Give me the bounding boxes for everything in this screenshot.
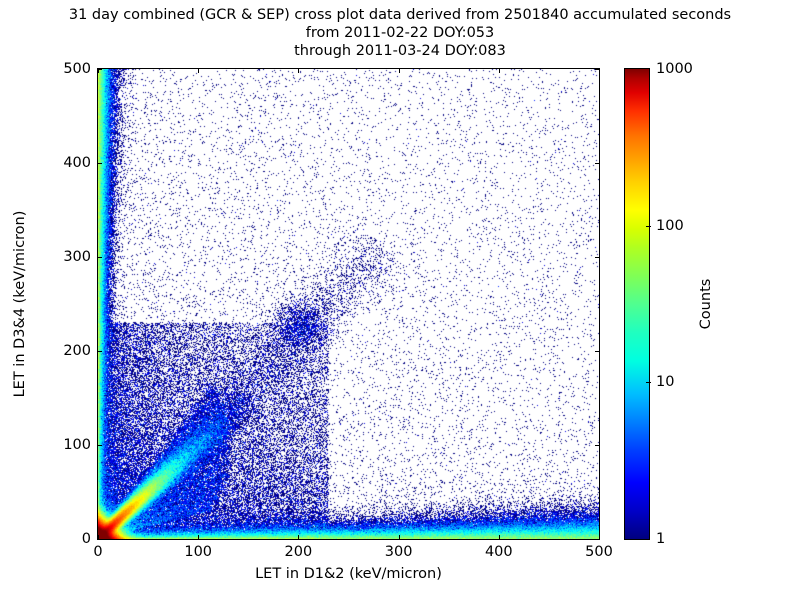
x-tick-mark (499, 69, 500, 73)
y-tick-label: 100 (63, 437, 91, 453)
y-tick-mark (595, 445, 599, 446)
y-tick-mark (595, 69, 599, 70)
plot-title: 31 day combined (GCR & SEP) cross plot d… (0, 6, 800, 60)
colorbar-tick-mark (646, 382, 651, 383)
x-tick-mark (499, 535, 500, 539)
y-tick-mark (595, 539, 599, 540)
plot-title-line-2: from 2011-02-22 DOY:053 (0, 24, 800, 42)
y-tick-mark (595, 257, 599, 258)
colorbar-tick-label: 1 (656, 531, 665, 547)
x-tick-mark (399, 535, 400, 539)
x-tick-label: 0 (93, 544, 102, 560)
x-axis-label: LET in D1&2 (keV/micron) (97, 566, 600, 582)
y-tick-mark (595, 163, 599, 164)
matplotlib-figure: 31 day combined (GCR & SEP) cross plot d… (0, 0, 800, 600)
y-tick-mark (98, 539, 102, 540)
x-tick-mark (198, 69, 199, 73)
colorbar-tick-label: 10 (656, 374, 674, 390)
y-axis-label: LET in D3&4 (keV/micron) (12, 211, 28, 398)
x-tick-label: 500 (585, 544, 613, 560)
y-tick-mark (98, 351, 102, 352)
y-tick-label: 400 (63, 155, 91, 171)
colorbar-gradient (625, 69, 649, 539)
x-tick-mark (298, 69, 299, 73)
x-tick-label: 400 (485, 544, 513, 560)
y-tick-mark (595, 351, 599, 352)
x-tick-mark (599, 535, 600, 539)
plot-title-line-1: 31 day combined (GCR & SEP) cross plot d… (0, 6, 800, 24)
plot-axes-frame (97, 68, 600, 540)
y-tick-label: 500 (63, 61, 91, 77)
x-tick-label: 100 (184, 544, 212, 560)
x-tick-mark (599, 69, 600, 73)
y-tick-mark (98, 257, 102, 258)
colorbar-tick-label: 100 (656, 218, 684, 234)
density-scatter-canvas (98, 69, 599, 539)
y-tick-label: 300 (63, 249, 91, 265)
x-tick-mark (298, 535, 299, 539)
y-tick-label: 0 (82, 531, 91, 547)
y-tick-mark (98, 69, 102, 70)
x-tick-mark (399, 69, 400, 73)
plot-title-line-3: through 2011-03-24 DOY:083 (0, 42, 800, 60)
x-tick-label: 300 (385, 544, 413, 560)
y-tick-label: 200 (63, 343, 91, 359)
colorbar-tick-label: 1000 (656, 61, 693, 77)
y-tick-mark (98, 445, 102, 446)
x-tick-mark (198, 535, 199, 539)
colorbar-label: Counts (698, 279, 714, 330)
y-tick-mark (98, 163, 102, 164)
colorbar (624, 68, 650, 540)
x-tick-label: 200 (285, 544, 313, 560)
colorbar-tick-mark (646, 226, 651, 227)
